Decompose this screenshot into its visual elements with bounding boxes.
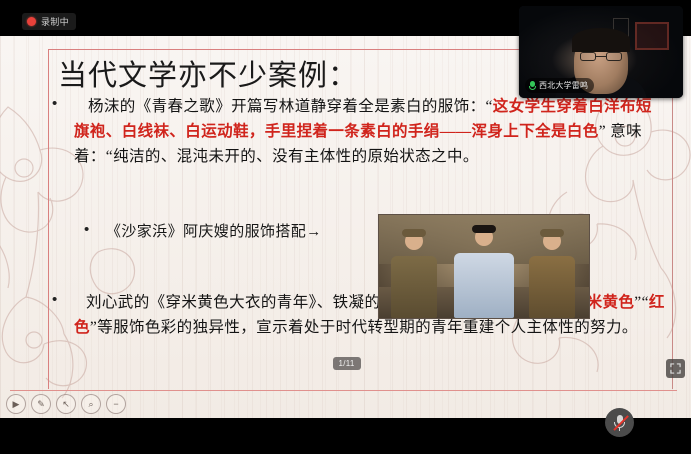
participant-name-label: 西北大学雷鸣 bbox=[539, 80, 588, 91]
slide-frame-bottom bbox=[10, 390, 677, 391]
slide-frame-left bbox=[48, 49, 49, 389]
expand-arrows-icon bbox=[670, 363, 681, 374]
paragraph-1-segment-1: 杨沫的《青春之歌》开篇写林道静穿着全是素白的服饰：“ bbox=[88, 98, 493, 115]
recording-badge: 录制中 bbox=[22, 13, 76, 30]
opera-stage-photo bbox=[378, 214, 590, 319]
slide-paragraph-1: 杨沫的《青春之歌》开篇写林道静穿着全是素白的服饰：“这女学生穿着白洋布短旗袍、白… bbox=[74, 94, 652, 169]
expand-icon[interactable] bbox=[666, 359, 685, 378]
bullet-glyph-3: • bbox=[52, 290, 74, 310]
slide-bullet-2: • 《沙家浜》阿庆嫂的服饰搭配→ bbox=[84, 220, 414, 245]
participant-video-tile[interactable]: 西北大学雷鸣 bbox=[519, 6, 683, 98]
mic-active-icon bbox=[529, 81, 536, 91]
slide-toolbar[interactable]: ▶ ✎ ↖ ⌕ − bbox=[6, 394, 126, 414]
recording-label: 录制中 bbox=[41, 15, 69, 28]
photo-figure-lady-center bbox=[454, 228, 514, 318]
microphone-muted-icon bbox=[614, 415, 625, 431]
paragraph-3-segment-5: ”等服饰色彩的独异性，宣示着处于时代转型期的青年重建个人主体性的努力。 bbox=[90, 319, 638, 336]
video-person-glasses-right bbox=[606, 52, 622, 61]
slide-title: 当代文学亦不少案例： bbox=[58, 52, 358, 94]
zoom-out-button[interactable]: − bbox=[106, 394, 126, 414]
bullet-glyph: • bbox=[52, 94, 74, 114]
video-person-glasses-bridge bbox=[596, 56, 606, 57]
pen-button[interactable]: ✎ bbox=[31, 394, 51, 414]
slide-frame-right bbox=[672, 49, 673, 389]
zoom-meeting-window: 录制中 bbox=[0, 0, 691, 454]
paragraph-3-segment-3: ”“ bbox=[634, 294, 649, 311]
mute-toggle-button[interactable] bbox=[605, 408, 634, 437]
pointer-button[interactable]: ↖ bbox=[56, 394, 76, 414]
participant-name-tag: 西北大学雷鸣 bbox=[525, 78, 594, 93]
slide-paragraph-2: 《沙家浜》阿庆嫂的服饰搭配→ bbox=[106, 220, 322, 245]
recording-dot-icon bbox=[27, 17, 36, 26]
bottom-bar bbox=[0, 418, 691, 454]
play-button[interactable]: ▶ bbox=[6, 394, 26, 414]
page-indicator: 1/11 bbox=[333, 357, 361, 370]
paragraph-3-segment-2: 米黄色 bbox=[587, 294, 635, 311]
bullet-glyph-2: • bbox=[84, 220, 106, 240]
photo-figure-soldier-left bbox=[391, 232, 437, 318]
photo-figure-soldier-right bbox=[529, 232, 575, 318]
video-wall-frame-decoration bbox=[635, 22, 669, 50]
video-person-glasses-left bbox=[580, 52, 596, 61]
zoom-in-button[interactable]: ⌕ bbox=[81, 394, 101, 414]
slide-bullet-1: • 杨沫的《青春之歌》开篇写林道静穿着全是素白的服饰：“这女学生穿着白洋布短旗袍… bbox=[52, 94, 652, 169]
video-person-hair bbox=[572, 28, 630, 52]
